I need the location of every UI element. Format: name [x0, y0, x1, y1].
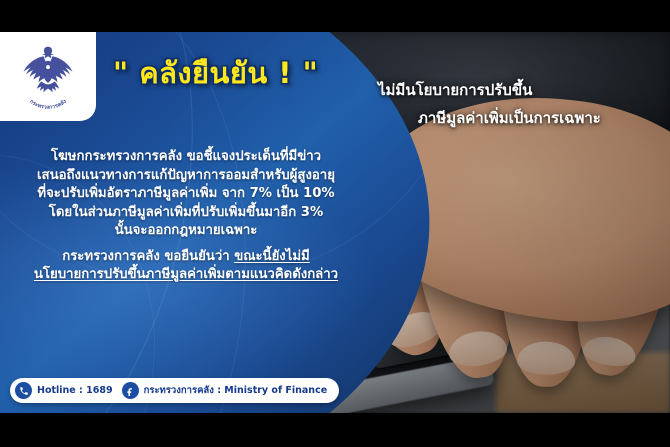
garuda-emblem-icon: กระทรวงการคลัง — [11, 40, 85, 114]
hotline-item[interactable]: Hotline : 1689 — [15, 382, 113, 399]
hotline-label: Hotline : 1689 — [37, 385, 113, 396]
body-line: โดยในส่วนภาษีมูลค่าเพิ่มที่ปรับเพิ่มขึ้น… — [10, 204, 362, 223]
letterbox-bottom — [0, 413, 670, 447]
closing-underlined-text: นโยบายการปรับขึ้นภาษีมูลค่าเพิ่มตามแนวคิ… — [34, 267, 338, 282]
body-line: ที่จะปรับเพิ่มอัตราภาษีมูลค่าเพิ่ม จาก 7… — [10, 185, 362, 204]
body-closing-line2: นโยบายการปรับขึ้นภาษีมูลค่าเพิ่มตามแนวคิ… — [10, 266, 362, 285]
phone-icon — [15, 382, 32, 399]
headline-sub-line2: ภาษีมูลค่าเพิ่มเป็นการเฉพาะ — [418, 106, 601, 130]
infographic-canvas: กระทรวงการคลัง " คลังยืนยัน ! " ไม่มีนโย… — [0, 0, 670, 447]
headline-sub-line1: ไม่มีนโยบายการปรับขึ้น — [378, 78, 532, 102]
svg-text:กระทรวงการคลัง: กระทรวงการคลัง — [28, 97, 68, 110]
facebook-item[interactable]: กระทรวงการคลัง : Ministry of Finance — [122, 382, 328, 399]
body-copy: โฆษกกระทรวงการคลัง ขอชี้แจงประเด็นที่มีข… — [10, 148, 362, 285]
body-line: เสนอถึงแนวทางการแก้ปัญหาการออมสำหรับผู้ส… — [10, 167, 362, 186]
body-line: นั้นจะออกกฎหมายเฉพาะ — [10, 222, 362, 241]
closing-plain-text: กระทรวงการคลัง ขอยืนยันว่า — [62, 249, 234, 264]
headline-main: " คลังยืนยัน ! " — [113, 50, 318, 96]
headline-sub-line1-wrap: ไม่มีนโยบายการปรับขึ้น — [378, 78, 532, 102]
headline-sub-line2-wrap: ภาษีมูลค่าเพิ่มเป็นการเฉพาะ — [418, 106, 601, 130]
contact-footer-pill: Hotline : 1689 กระทรวงการคลัง : Ministry… — [10, 378, 339, 403]
facebook-label: กระทรวงการคลัง : Ministry of Finance — [144, 383, 328, 398]
letterbox-top — [0, 0, 670, 32]
ministry-emblem-card: กระทรวงการคลัง — [0, 32, 96, 121]
closing-underlined-text: ขณะนี้ยังไม่มี — [234, 249, 310, 264]
headline-main-wrap: " คลังยืนยัน ! " — [113, 50, 318, 96]
body-closing-line1: กระทรวงการคลัง ขอยืนยันว่า ขณะนี้ยังไม่ม… — [10, 248, 362, 267]
facebook-icon — [122, 382, 139, 399]
body-line: โฆษกกระทรวงการคลัง ขอชี้แจงประเด็นที่มีข… — [10, 148, 362, 167]
emblem-caption-text: กระทรวงการคลัง — [28, 97, 68, 110]
